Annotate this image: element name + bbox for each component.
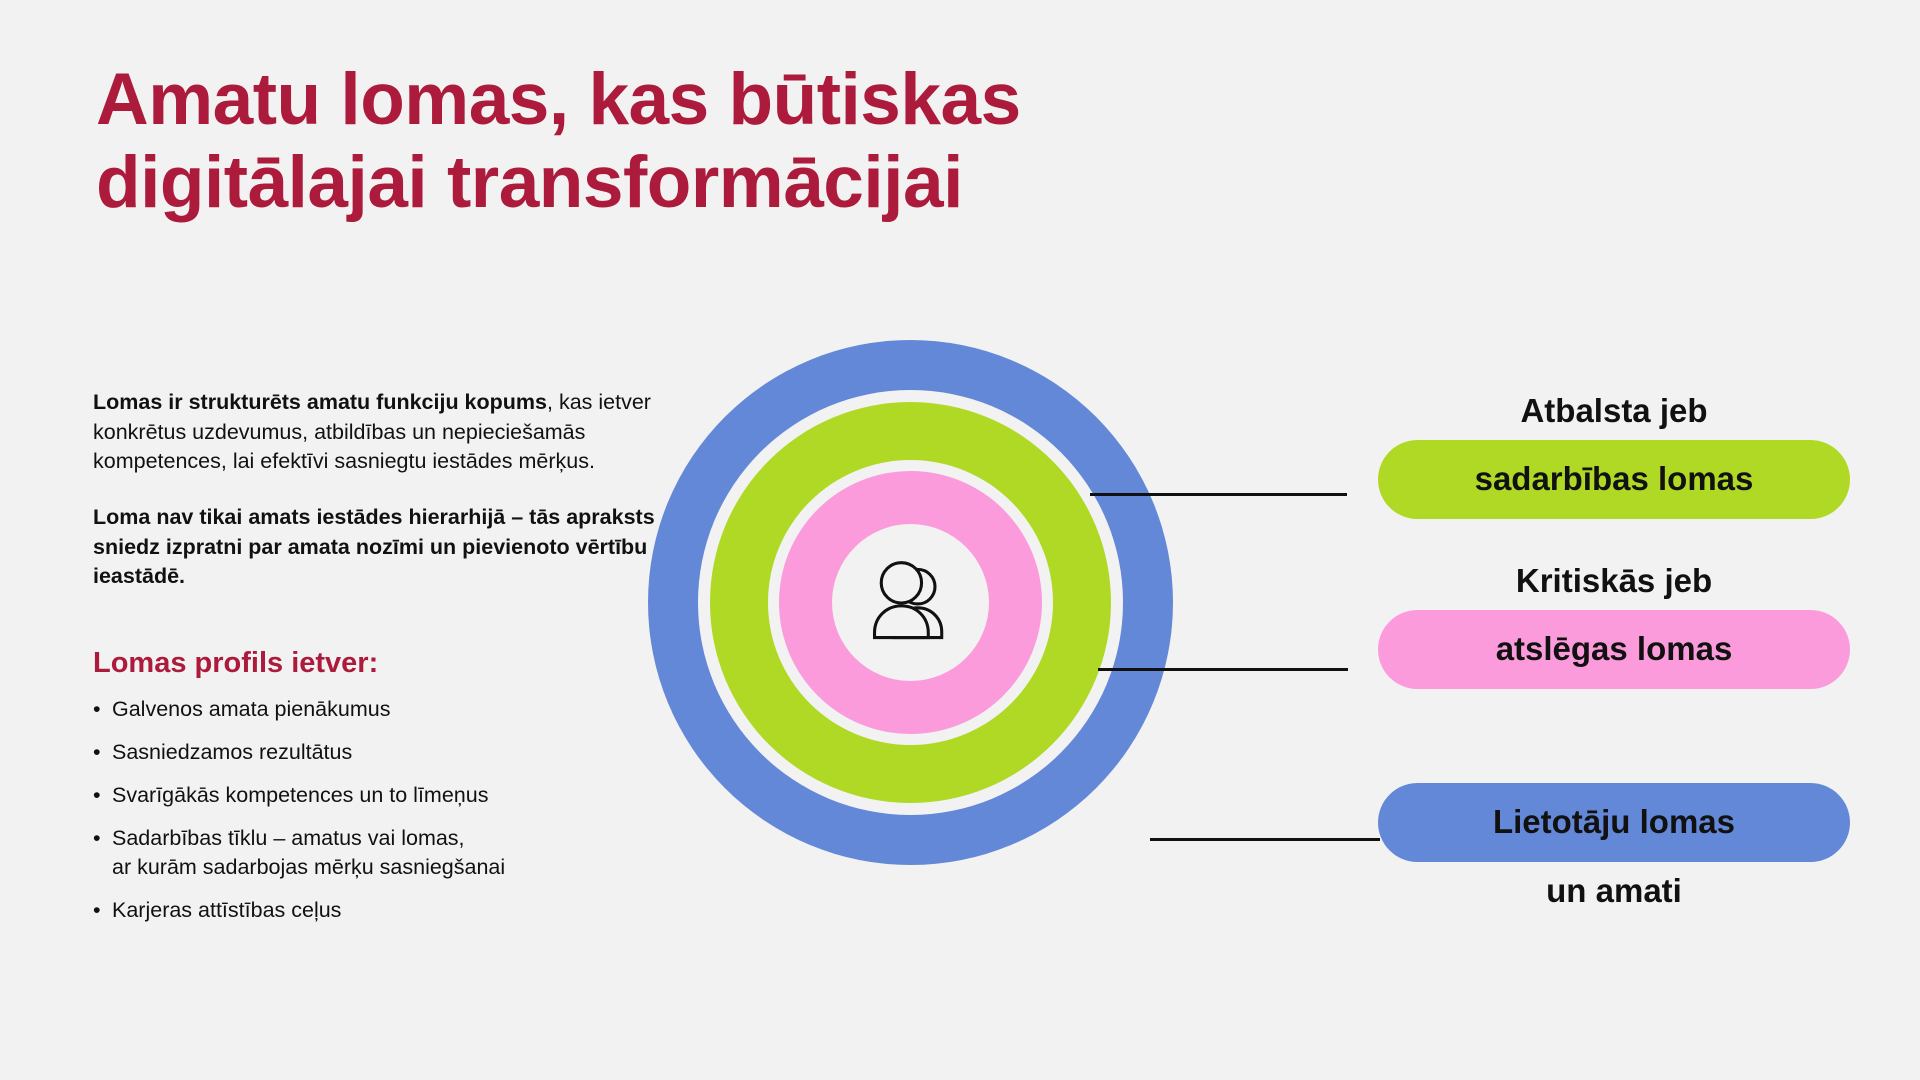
label-support-roles-prefix: Atbalsta jeb [1378,390,1850,432]
left-text-column: Lomas ir strukturēts amatu funkciju kopu… [93,388,693,939]
paragraph-role-meaning: Loma nav tikai amats iestādes hierarhijā… [93,503,693,592]
label-support-roles-pill[interactable]: sadarbības lomas [1378,440,1850,519]
bullet-dot-icon: • [93,824,101,853]
page-title: Amatu lomas, kas būtiskas digitālajai tr… [96,58,1356,224]
list-item-text: Karjeras attīstības ceļus [112,898,341,922]
list-item: • Svarīgākās kompetences un to līmeņus [93,781,693,810]
users-icon [863,555,959,651]
bullet-dot-icon: • [93,695,101,724]
connector-line-pink [1098,668,1348,671]
label-critical-roles-pill[interactable]: atslēgas lomas [1378,610,1850,689]
label-user-roles-suffix: un amati [1378,870,1850,912]
infographic-root: Amatu lomas, kas būtiskas digitālajai tr… [0,0,1920,1080]
list-item-text-continued: ar kurām sadarbojas mērķu sasniegšanai [112,853,693,882]
title-line-1: Amatu lomas, kas būtiskas [96,58,1356,141]
paragraph-definition: Lomas ir strukturēts amatu funkciju kopu… [93,388,693,477]
title-line-2: digitālajai transformācijai [96,141,1356,224]
label-critical-roles-prefix: Kritiskās jeb [1378,560,1850,602]
label-group-user-roles: Lietotāju lomas un amati [1378,775,1850,912]
list-item: • Karjeras attīstības ceļus [93,896,693,925]
list-item-text: Svarīgākās kompetences un to līmeņus [112,783,488,807]
list-item: • Sasniedzamos rezultātus [93,738,693,767]
list-item: • Sadarbības tīklu – amatus vai lomas, a… [93,824,693,882]
bullet-dot-icon: • [93,781,101,810]
label-group-critical-roles: Kritiskās jeb atslēgas lomas [1378,560,1850,697]
bullet-dot-icon: • [93,738,101,767]
diagram-center [832,524,989,681]
list-item-text: Galvenos amata pienākumus [112,697,390,721]
paragraph-definition-lead: Lomas ir strukturēts amatu funkciju kopu… [93,390,547,414]
list-item: • Galvenos amata pienākumus [93,695,693,724]
list-item-text: Sasniedzamos rezultātus [112,740,352,764]
concentric-rings-diagram [648,340,1173,865]
list-item-text: Sadarbības tīklu – amatus vai lomas, [112,826,465,850]
list-heading: Lomas profils ietver: [93,646,693,681]
label-group-support-roles: Atbalsta jeb sadarbības lomas [1378,390,1850,527]
bullet-dot-icon: • [93,896,101,925]
profile-bullet-list: • Galvenos amata pienākumus • Sasniedzam… [93,695,693,925]
connector-line-blue [1150,838,1380,841]
label-user-roles-pill[interactable]: Lietotāju lomas [1378,783,1850,862]
connector-line-green [1090,493,1347,496]
